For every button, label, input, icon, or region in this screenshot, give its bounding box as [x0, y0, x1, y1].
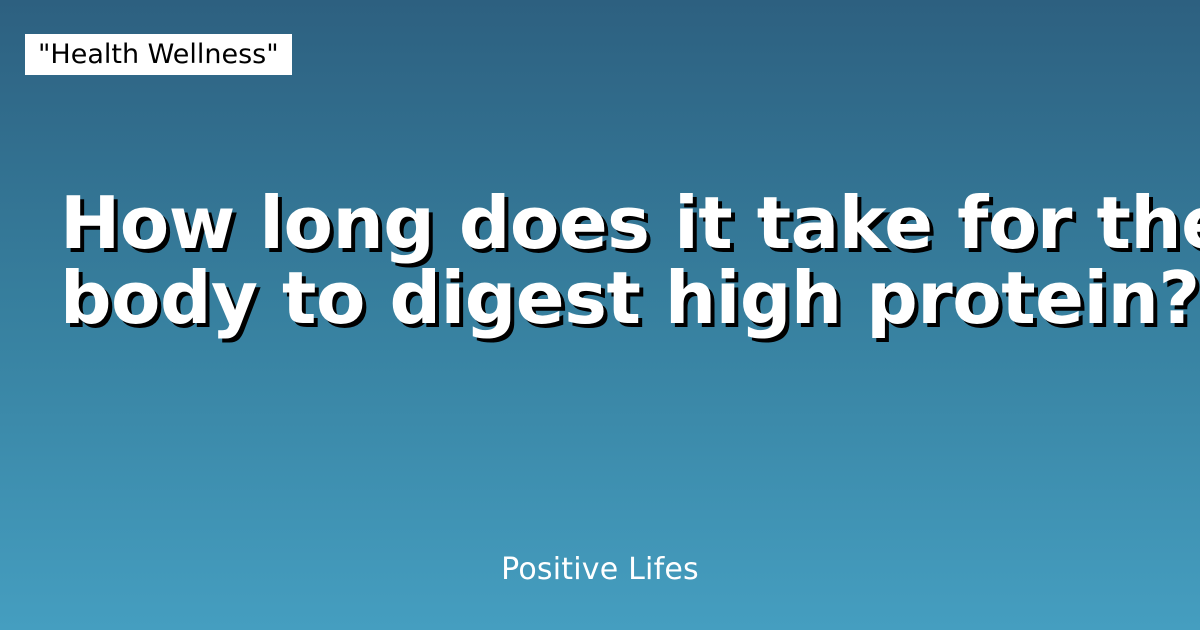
headline-line-1: How long does it take for the [60, 186, 1140, 261]
category-badge-label: "Health Wellness" [38, 41, 279, 68]
brand-name: Positive Lifes [501, 552, 699, 587]
footer: Positive Lifes [0, 552, 1200, 588]
headline-line-2: body to digest high protein? [60, 261, 1140, 336]
headline: How long does it take for the body to di… [0, 186, 1200, 336]
category-badge: "Health Wellness" [25, 34, 292, 75]
social-share-card: "Health Wellness" How long does it take … [0, 0, 1200, 630]
